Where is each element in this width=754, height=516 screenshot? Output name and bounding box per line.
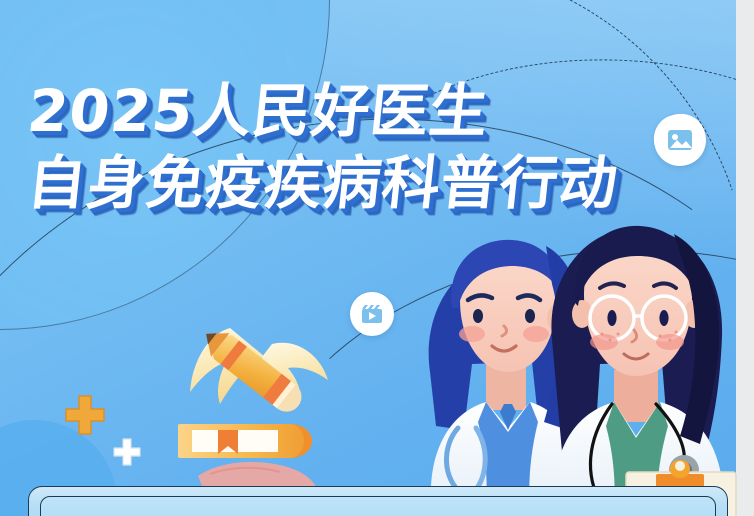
plus-mark-orange-icon (62, 392, 108, 438)
bottom-panel-inner (40, 496, 716, 516)
poster-title: 2025人民好医生 自身免疫疾病科普行动 (28, 82, 688, 212)
title-line-2: 自身免疫疾病科普行动 (25, 154, 691, 212)
poster-banner: 2025人民好医生 自身免疫疾病科普行动 (0, 0, 754, 516)
plus-mark-white-icon (112, 437, 142, 467)
video-clapperboard-icon[interactable] (350, 292, 394, 336)
doctors-illustration (412, 222, 742, 516)
doctor-right (551, 226, 736, 516)
book-illustration (178, 412, 318, 470)
title-line-1: 2025人民好医生 (25, 82, 691, 140)
